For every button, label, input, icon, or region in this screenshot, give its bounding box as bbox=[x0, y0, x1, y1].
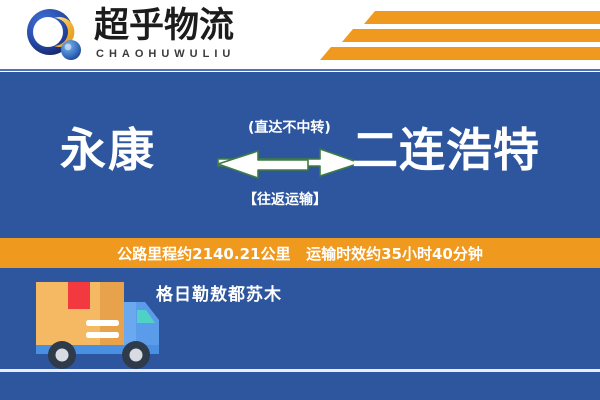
logistics-route-banner: 超乎物流 CHAOHUWULIU 永康 (直达不中转) 【往返运输】 二连浩特 … bbox=[0, 0, 600, 400]
route-destination-city: 二连浩特 bbox=[352, 122, 540, 178]
roundtrip-shipping-note: 【往返运输】 bbox=[243, 189, 327, 209]
header-stripe-2 bbox=[342, 29, 600, 42]
double-headed-arrow-icon bbox=[216, 146, 362, 180]
header-stripe-3 bbox=[320, 47, 600, 60]
brand-wordmark: 超乎物流 CHAOHUWULIU bbox=[94, 6, 274, 66]
brand-name-cn: 超乎物流 bbox=[94, 6, 274, 46]
route-panel: 永康 (直达不中转) 【往返运输】 二连浩特 bbox=[0, 72, 600, 238]
destination-hub-name: 格日勒敖都苏木 bbox=[156, 280, 282, 305]
header-stripe-1 bbox=[364, 11, 600, 24]
circle-crescent-logo-icon bbox=[24, 8, 86, 64]
direct-shipping-note: (直达不中转) bbox=[248, 117, 331, 137]
brand-name-en: CHAOHUWULIU bbox=[96, 47, 274, 61]
bottom-divider bbox=[0, 369, 600, 372]
header-stripes-decoration bbox=[280, 0, 600, 72]
header-divider bbox=[0, 69, 600, 71]
destination-hub-panel: 格日勒敖都苏木 bbox=[0, 268, 600, 400]
route-origin-city: 永康 bbox=[60, 122, 156, 178]
route-info-text: 公路里程约2140.21公里 运输时效约35小时40分钟 bbox=[117, 243, 483, 264]
banner-header: 超乎物流 CHAOHUWULIU bbox=[0, 0, 600, 72]
delivery-truck-icon bbox=[26, 276, 166, 374]
route-info-bar: 公路里程约2140.21公里 运输时效约35小时40分钟 bbox=[0, 238, 600, 268]
